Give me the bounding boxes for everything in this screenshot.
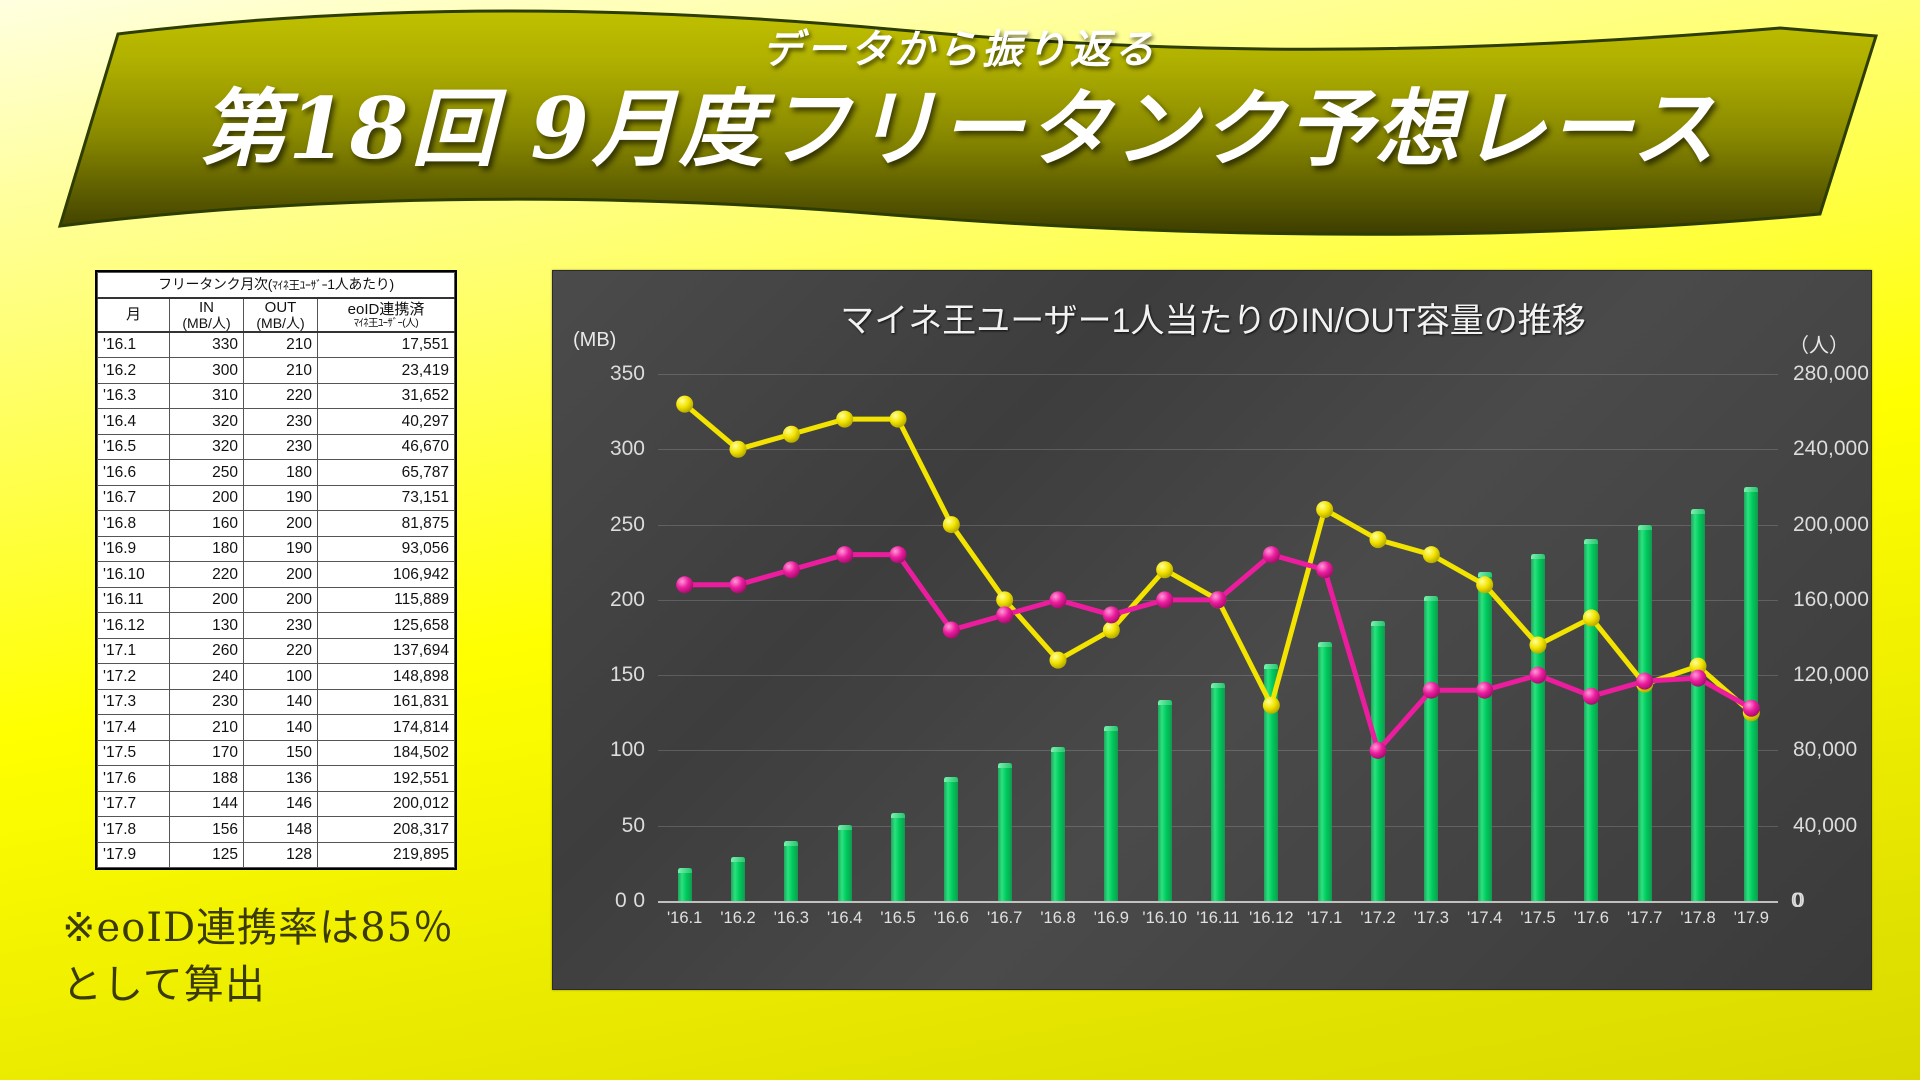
x-axis-tick-label: '16.8 <box>1040 909 1075 928</box>
cell-eoid: 161,831 <box>318 689 455 715</box>
cell-in: 156 <box>170 817 244 843</box>
col-header-out: OUT (MB/人) <box>244 298 318 332</box>
cell-month: '17.8 <box>98 817 170 843</box>
cell-month: '16.3 <box>98 383 170 409</box>
x-axis-tick-label: '16.5 <box>880 909 915 928</box>
cell-eoid: 192,551 <box>318 766 455 792</box>
data-point-marker <box>1156 561 1173 578</box>
cell-out: 136 <box>244 766 318 792</box>
cell-out: 230 <box>244 613 318 639</box>
table-row: '16.12130230125,658 <box>98 613 455 639</box>
cell-eoid: 137,694 <box>318 638 455 664</box>
x-axis-tick-label: '17.6 <box>1574 909 1609 928</box>
cell-out: 140 <box>244 715 318 741</box>
data-point-marker <box>1370 531 1387 548</box>
x-axis-tick-label: '17.5 <box>1520 909 1555 928</box>
data-point-marker <box>1690 670 1707 687</box>
cell-month: '16.2 <box>98 358 170 384</box>
table-row: '17.4210140174,814 <box>98 715 455 741</box>
data-point-marker <box>890 546 907 563</box>
cell-month: '16.9 <box>98 536 170 562</box>
cell-eoid: 31,652 <box>318 383 455 409</box>
cell-in: 310 <box>170 383 244 409</box>
col-header-out-l2: (MB/人) <box>249 316 312 331</box>
cell-out: 210 <box>244 332 318 358</box>
cell-eoid: 40,297 <box>318 409 455 435</box>
cell-in: 130 <box>170 613 244 639</box>
cell-eoid: 93,056 <box>318 536 455 562</box>
table-row: '16.816020081,875 <box>98 511 455 537</box>
y-axis-zero-left: 0 <box>615 889 627 913</box>
cell-in: 160 <box>170 511 244 537</box>
cell-in: 210 <box>170 715 244 741</box>
col-header-out-l1: OUT <box>265 299 297 316</box>
x-axis-tick-label: '17.7 <box>1627 909 1662 928</box>
data-point-marker <box>1156 591 1173 608</box>
cell-out: 150 <box>244 740 318 766</box>
cell-month: '16.1 <box>98 332 170 358</box>
data-point-marker <box>676 576 693 593</box>
x-axis-tick-label: '16.4 <box>827 909 862 928</box>
cell-eoid: 148,898 <box>318 664 455 690</box>
col-header-in-l2: (MB/人) <box>175 316 238 331</box>
data-point-marker <box>783 426 800 443</box>
cell-out: 200 <box>244 562 318 588</box>
cell-out: 220 <box>244 383 318 409</box>
data-point-marker <box>1530 637 1547 654</box>
cell-out: 190 <box>244 485 318 511</box>
cell-month: '17.2 <box>98 664 170 690</box>
footnote-line-2: として算出 <box>62 957 582 1014</box>
x-axis-tick-label: '16.6 <box>934 909 969 928</box>
data-point-marker <box>836 546 853 563</box>
data-point-marker <box>1423 546 1440 563</box>
footnote-line-1: ※eoID連携率は85％ <box>62 900 582 957</box>
chart-panel: マイネ王ユーザー1人当たりのIN/OUT容量の推移 (MB) （人） 05010… <box>552 270 1872 990</box>
cell-in: 200 <box>170 587 244 613</box>
cell-in: 240 <box>170 664 244 690</box>
x-axis-tick-label: '16.10 <box>1142 909 1186 928</box>
table-row: '17.5170150184,502 <box>98 740 455 766</box>
data-point-marker <box>1583 609 1600 626</box>
data-point-marker <box>1370 742 1387 759</box>
footnote: ※eoID連携率は85％ として算出 <box>62 900 582 1014</box>
data-point-marker <box>1103 606 1120 623</box>
data-point-marker <box>1210 591 1227 608</box>
table-row: '17.6188136192,551 <box>98 766 455 792</box>
cell-in: 200 <box>170 485 244 511</box>
cell-out: 220 <box>244 638 318 664</box>
cell-month: '16.6 <box>98 460 170 486</box>
cell-in: 144 <box>170 791 244 817</box>
data-point-marker <box>1636 673 1653 690</box>
cell-month: '16.5 <box>98 434 170 460</box>
table-caption: フリータンク月次(ﾏｲﾈ王ﾕｰｻﾞｰ1人あたり) <box>98 273 455 299</box>
table-row: '16.10220200106,942 <box>98 562 455 588</box>
x-axis-tick-label: '17.1 <box>1307 909 1342 928</box>
cell-out: 100 <box>244 664 318 690</box>
cell-in: 320 <box>170 434 244 460</box>
x-axis-tick-label: '17.3 <box>1414 909 1449 928</box>
x-axis-tick-label: '16.1 <box>667 909 702 928</box>
cell-month: '16.11 <box>98 587 170 613</box>
cell-eoid: 23,419 <box>318 358 455 384</box>
cell-out: 146 <box>244 791 318 817</box>
x-axis-tick-label: '16.3 <box>774 909 809 928</box>
table-row: '16.432023040,297 <box>98 409 455 435</box>
data-point-marker <box>676 396 693 413</box>
cell-month: '17.4 <box>98 715 170 741</box>
data-point-marker <box>836 411 853 428</box>
col-header-eoid-l1: eoID連携済 <box>348 301 425 318</box>
cell-eoid: 125,658 <box>318 613 455 639</box>
data-point-marker <box>1743 700 1760 717</box>
col-header-month: 月 <box>98 298 170 332</box>
cell-out: 140 <box>244 689 318 715</box>
table-row: '16.625018065,787 <box>98 460 455 486</box>
x-axis-tick-label: '16.2 <box>720 909 755 928</box>
cell-in: 230 <box>170 689 244 715</box>
x-axis-tick-label: '17.8 <box>1680 909 1715 928</box>
table-row: '17.9125128219,895 <box>98 842 455 868</box>
cell-eoid: 46,670 <box>318 434 455 460</box>
data-point-marker <box>943 516 960 533</box>
table-caption-main: フリータンク月次( <box>158 276 272 292</box>
cell-out: 200 <box>244 511 318 537</box>
table-row: '16.720019073,151 <box>98 485 455 511</box>
x-axis-tick-label: '16.12 <box>1249 909 1293 928</box>
y-axis-zero-right: 0 <box>1791 889 1803 913</box>
cell-out: 128 <box>244 842 318 868</box>
cell-month: '16.4 <box>98 409 170 435</box>
data-point-marker <box>1476 576 1493 593</box>
cell-eoid: 200,012 <box>318 791 455 817</box>
banner-title: 第18回 9月度フリータンク予想レース <box>0 82 1920 176</box>
data-point-marker <box>943 621 960 638</box>
data-point-marker <box>996 606 1013 623</box>
table-row: '16.532023046,670 <box>98 434 455 460</box>
cell-eoid: 219,895 <box>318 842 455 868</box>
cell-in: 250 <box>170 460 244 486</box>
cell-eoid: 106,942 <box>318 562 455 588</box>
table-row: '17.7144146200,012 <box>98 791 455 817</box>
cell-out: 180 <box>244 460 318 486</box>
cell-eoid: 115,889 <box>318 587 455 613</box>
table-row: '17.1260220137,694 <box>98 638 455 664</box>
table-row: '16.133021017,551 <box>98 332 455 358</box>
cell-month: '17.5 <box>98 740 170 766</box>
cell-eoid: 73,151 <box>318 485 455 511</box>
data-point-marker <box>1103 621 1120 638</box>
cell-month: '16.12 <box>98 613 170 639</box>
data-point-marker <box>996 591 1013 608</box>
col-header-eoid-l2: ﾏｲﾈ王ﾕｰｻﾞｰ(人) <box>323 318 449 329</box>
cell-in: 170 <box>170 740 244 766</box>
table-row: '16.230021023,419 <box>98 358 455 384</box>
table-row: '16.331022031,652 <box>98 383 455 409</box>
data-point-marker <box>730 441 747 458</box>
cell-out: 190 <box>244 536 318 562</box>
cell-out: 210 <box>244 358 318 384</box>
cell-month: '16.8 <box>98 511 170 537</box>
data-point-marker <box>1316 501 1333 518</box>
data-point-marker <box>1583 688 1600 705</box>
cell-out: 200 <box>244 587 318 613</box>
cell-in: 188 <box>170 766 244 792</box>
cell-eoid: 81,875 <box>318 511 455 537</box>
data-point-marker <box>1423 682 1440 699</box>
x-axis-tick-label: '16.11 <box>1196 909 1239 928</box>
table-body: '16.133021017,551'16.230021023,419'16.33… <box>98 332 455 868</box>
cell-in: 320 <box>170 409 244 435</box>
x-axis-tick-label: '16.9 <box>1094 909 1129 928</box>
col-header-in-l1: IN <box>199 299 214 316</box>
table-row: '17.3230140161,831 <box>98 689 455 715</box>
cell-out: 230 <box>244 434 318 460</box>
table-row: '16.11200200115,889 <box>98 587 455 613</box>
cell-in: 220 <box>170 562 244 588</box>
cell-eoid: 65,787 <box>318 460 455 486</box>
x-axis-tick-label: '17.2 <box>1360 909 1395 928</box>
cell-month: '17.3 <box>98 689 170 715</box>
cell-out: 230 <box>244 409 318 435</box>
table-row: '17.8156148208,317 <box>98 817 455 843</box>
cell-eoid: 208,317 <box>318 817 455 843</box>
cell-month: '17.6 <box>98 766 170 792</box>
data-point-marker <box>1476 682 1493 699</box>
cell-eoid: 17,551 <box>318 332 455 358</box>
cell-in: 125 <box>170 842 244 868</box>
cell-month: '16.7 <box>98 485 170 511</box>
x-axis-tick-label: '16.7 <box>987 909 1022 928</box>
cell-in: 330 <box>170 332 244 358</box>
cell-month: '17.7 <box>98 791 170 817</box>
x-axis-tick-label: '17.9 <box>1734 909 1769 928</box>
data-point-marker <box>1263 697 1280 714</box>
cell-out: 148 <box>244 817 318 843</box>
table-row: '16.918019093,056 <box>98 536 455 562</box>
data-point-marker <box>730 576 747 593</box>
data-point-marker <box>1316 561 1333 578</box>
cell-month: '17.9 <box>98 842 170 868</box>
cell-eoid: 184,502 <box>318 740 455 766</box>
line-path <box>685 555 1752 751</box>
data-point-marker <box>1530 667 1547 684</box>
col-header-eoid: eoID連携済 ﾏｲﾈ王ﾕｰｻﾞｰ(人) <box>318 298 455 332</box>
table-caption-tail: 1人あたり) <box>327 276 394 292</box>
data-point-marker <box>1263 546 1280 563</box>
table-caption-small: ﾏｲﾈ王ﾕｰｻﾞｰ <box>272 280 327 292</box>
banner-subtitle: データから振り返る <box>0 28 1920 72</box>
cell-in: 180 <box>170 536 244 562</box>
banner-shape <box>0 0 1920 250</box>
cell-in: 300 <box>170 358 244 384</box>
col-header-in: IN (MB/人) <box>170 298 244 332</box>
cell-month: '16.10 <box>98 562 170 588</box>
data-point-marker <box>1050 591 1067 608</box>
table-row: '17.2240100148,898 <box>98 664 455 690</box>
data-point-marker <box>890 411 907 428</box>
data-point-marker <box>783 561 800 578</box>
cell-eoid: 174,814 <box>318 715 455 741</box>
title-banner: データから振り返る 第18回 9月度フリータンク予想レース <box>0 0 1920 250</box>
cell-in: 260 <box>170 638 244 664</box>
line-series-layer <box>553 271 1873 991</box>
data-point-marker <box>1050 652 1067 669</box>
freetank-monthly-table: フリータンク月次(ﾏｲﾈ王ﾕｰｻﾞｰ1人あたり) 月 IN (MB/人) OUT… <box>95 270 457 870</box>
cell-month: '17.1 <box>98 638 170 664</box>
x-axis-tick-label: '17.4 <box>1467 909 1502 928</box>
